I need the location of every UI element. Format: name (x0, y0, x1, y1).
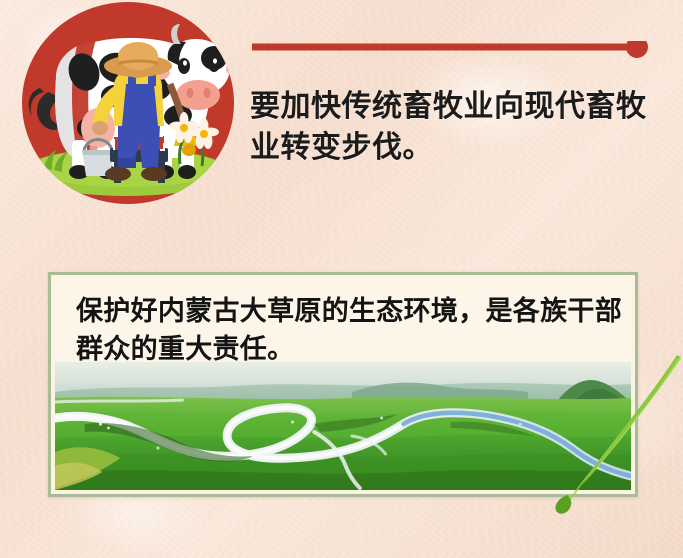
quote-card-inner: 保护好内蒙古大草原的生态环境，是各族干部群众的重大责任。 (55, 279, 631, 490)
quote-card: 保护好内蒙古大草原的生态环境，是各族干部群众的重大责任。 (48, 272, 638, 497)
headline-connector-line (252, 41, 650, 65)
quote-card-text: 保护好内蒙古大草原的生态环境，是各族干部群众的重大责任。 (76, 293, 623, 370)
dairy-farmer-milking-cow-illustration (18, 0, 258, 215)
connector-end-dot (626, 41, 648, 58)
headline-quote: 要加快传统畜牧业向现代畜牧业转变步伐。 (250, 86, 650, 169)
poster-root: 要加快传统畜牧业向现代畜牧业转变步伐。 保护好内蒙古大草原的生态环境，是各族干部… (0, 0, 683, 558)
inner-mongolia-grassland-river-photo (55, 362, 631, 490)
